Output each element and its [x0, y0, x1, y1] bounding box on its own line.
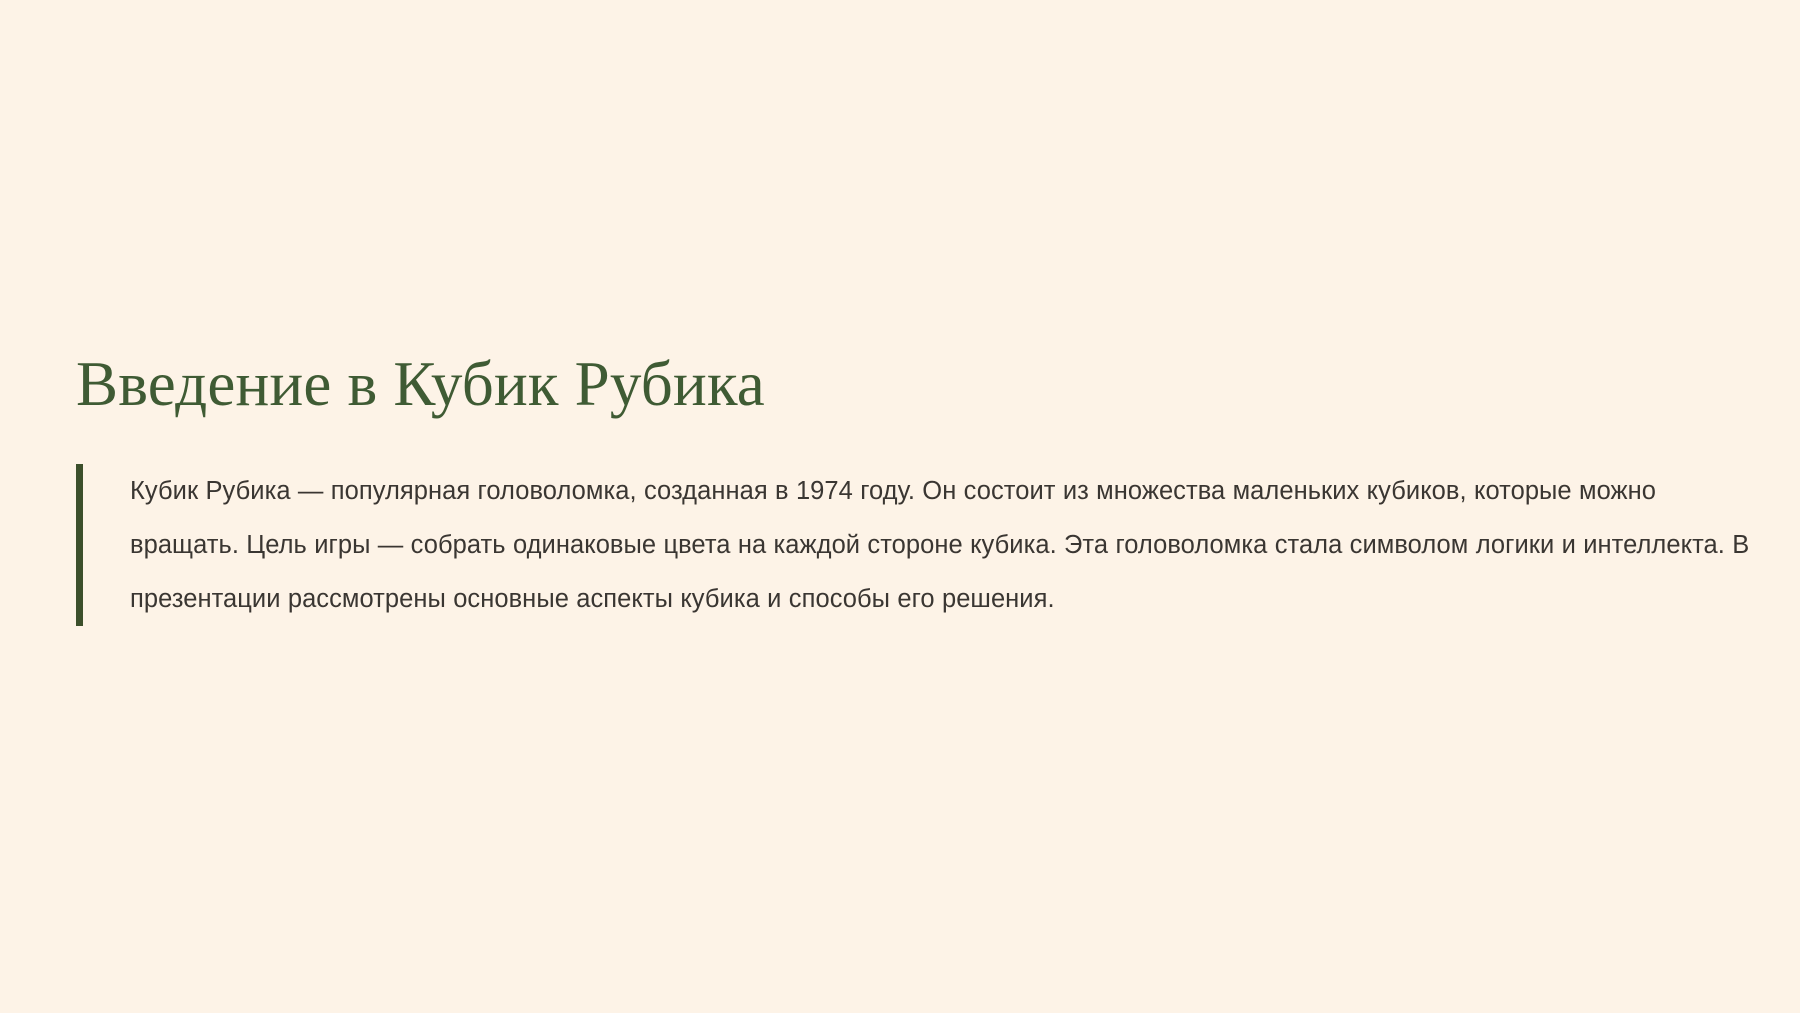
slide-content-area: Введение в Кубик Рубика Кубик Рубика — п…	[0, 0, 1800, 1013]
body-paragraph: Кубик Рубика — популярная головоломка, с…	[83, 464, 1756, 626]
presentation-slide: Введение в Кубик Рубика Кубик Рубика — п…	[0, 0, 1800, 1013]
accent-bar	[76, 464, 83, 626]
body-quote-block: Кубик Рубика — популярная головоломка, с…	[76, 464, 1756, 626]
page-title: Введение в Кубик Рубика	[76, 346, 1676, 422]
